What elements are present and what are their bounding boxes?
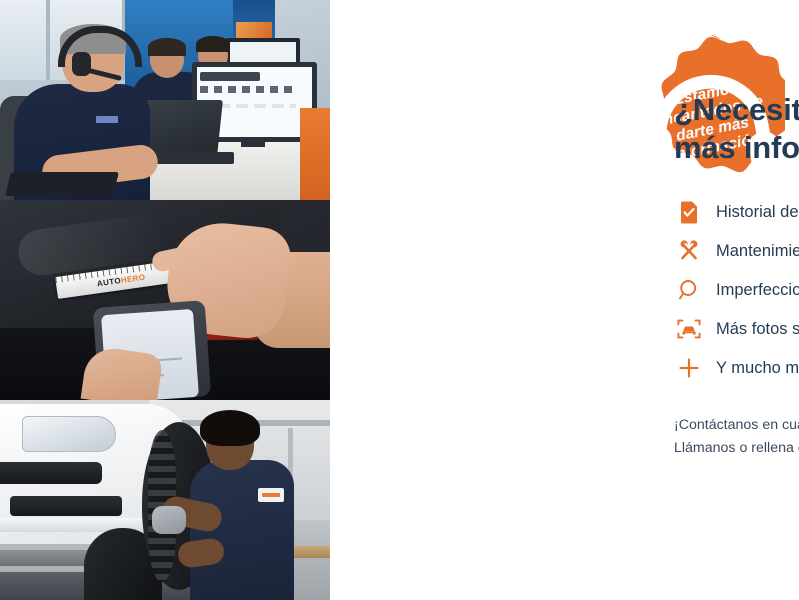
orange-rack-shape: [300, 108, 330, 200]
feature-label: Historial de mantenimientos: [716, 202, 799, 222]
third-agent-hair-shape: [196, 36, 230, 52]
mechanic-wheel-photo: [0, 400, 330, 600]
ruler-brand-suffix: HERO: [120, 273, 146, 285]
feature-item-maintenance-done: Mantenimiento realizado: [674, 231, 799, 270]
plus-icon: [674, 353, 704, 383]
feature-label: Más fotos sobre el coche: [716, 319, 799, 339]
window-frame-bar: [46, 0, 50, 80]
feature-label: Y mucho más: [716, 358, 799, 378]
feature-item-service-history: Historial de mantenimientos: [674, 192, 799, 231]
feature-label: Imperfecciones: [716, 280, 799, 300]
document-check-icon: [674, 197, 704, 227]
feature-item-imperfections: Imperfecciones: [674, 270, 799, 309]
monitor-icon-row-shape: [200, 86, 296, 93]
contact-line-2: Llámanos o rellena el formulario de cont…: [674, 437, 799, 460]
feature-item-more-photos: Más fotos sobre el coche: [674, 309, 799, 348]
ruler-brand-prefix: AUTO: [96, 276, 121, 288]
mechanic-hair-shape: [200, 410, 260, 446]
car-viewfinder-icon: [674, 314, 704, 344]
feature-list: Historial de mantenimientos Mantenimient…: [674, 192, 799, 387]
photo-column: AUTOHERO: [0, 0, 330, 600]
page-title: ¿Necesitas más información?: [674, 91, 799, 167]
desk-tablet-shape: [5, 172, 119, 196]
contact-text: ¡Contáctanos en cualquier momento para m…: [674, 414, 799, 460]
heading-line-2: más información?: [674, 129, 799, 167]
heading-line-1: ¿Necesitas: [674, 91, 799, 129]
feature-label: Mantenimiento realizado: [716, 241, 799, 261]
car-inspection-ruler-photo: AUTOHERO: [0, 200, 330, 400]
second-agent-hair-shape: [148, 38, 186, 56]
car-grille-shape: [0, 462, 102, 484]
magnifier-icon: [674, 275, 704, 305]
info-content-panel: Estamos encantados de darte más informac…: [330, 0, 799, 600]
info-promo-card: AUTOHERO: [0, 0, 799, 600]
contact-line-1: ¡Contáctanos en cualquier momento para m…: [674, 414, 799, 437]
crossed-tools-icon: [674, 236, 704, 266]
feature-item-much-more: Y mucho más: [674, 348, 799, 387]
mechanic-glove-shape: [152, 506, 186, 534]
mechanic-uniform-patch-shape: [258, 488, 284, 502]
monitor-toolbar-shape: [200, 72, 260, 81]
car-lower-grille-shape: [10, 496, 122, 516]
call-center-agent-photo: [0, 0, 330, 200]
agent-uniform-logo-shape: [96, 116, 118, 123]
car-headlight-shape: [22, 416, 116, 452]
